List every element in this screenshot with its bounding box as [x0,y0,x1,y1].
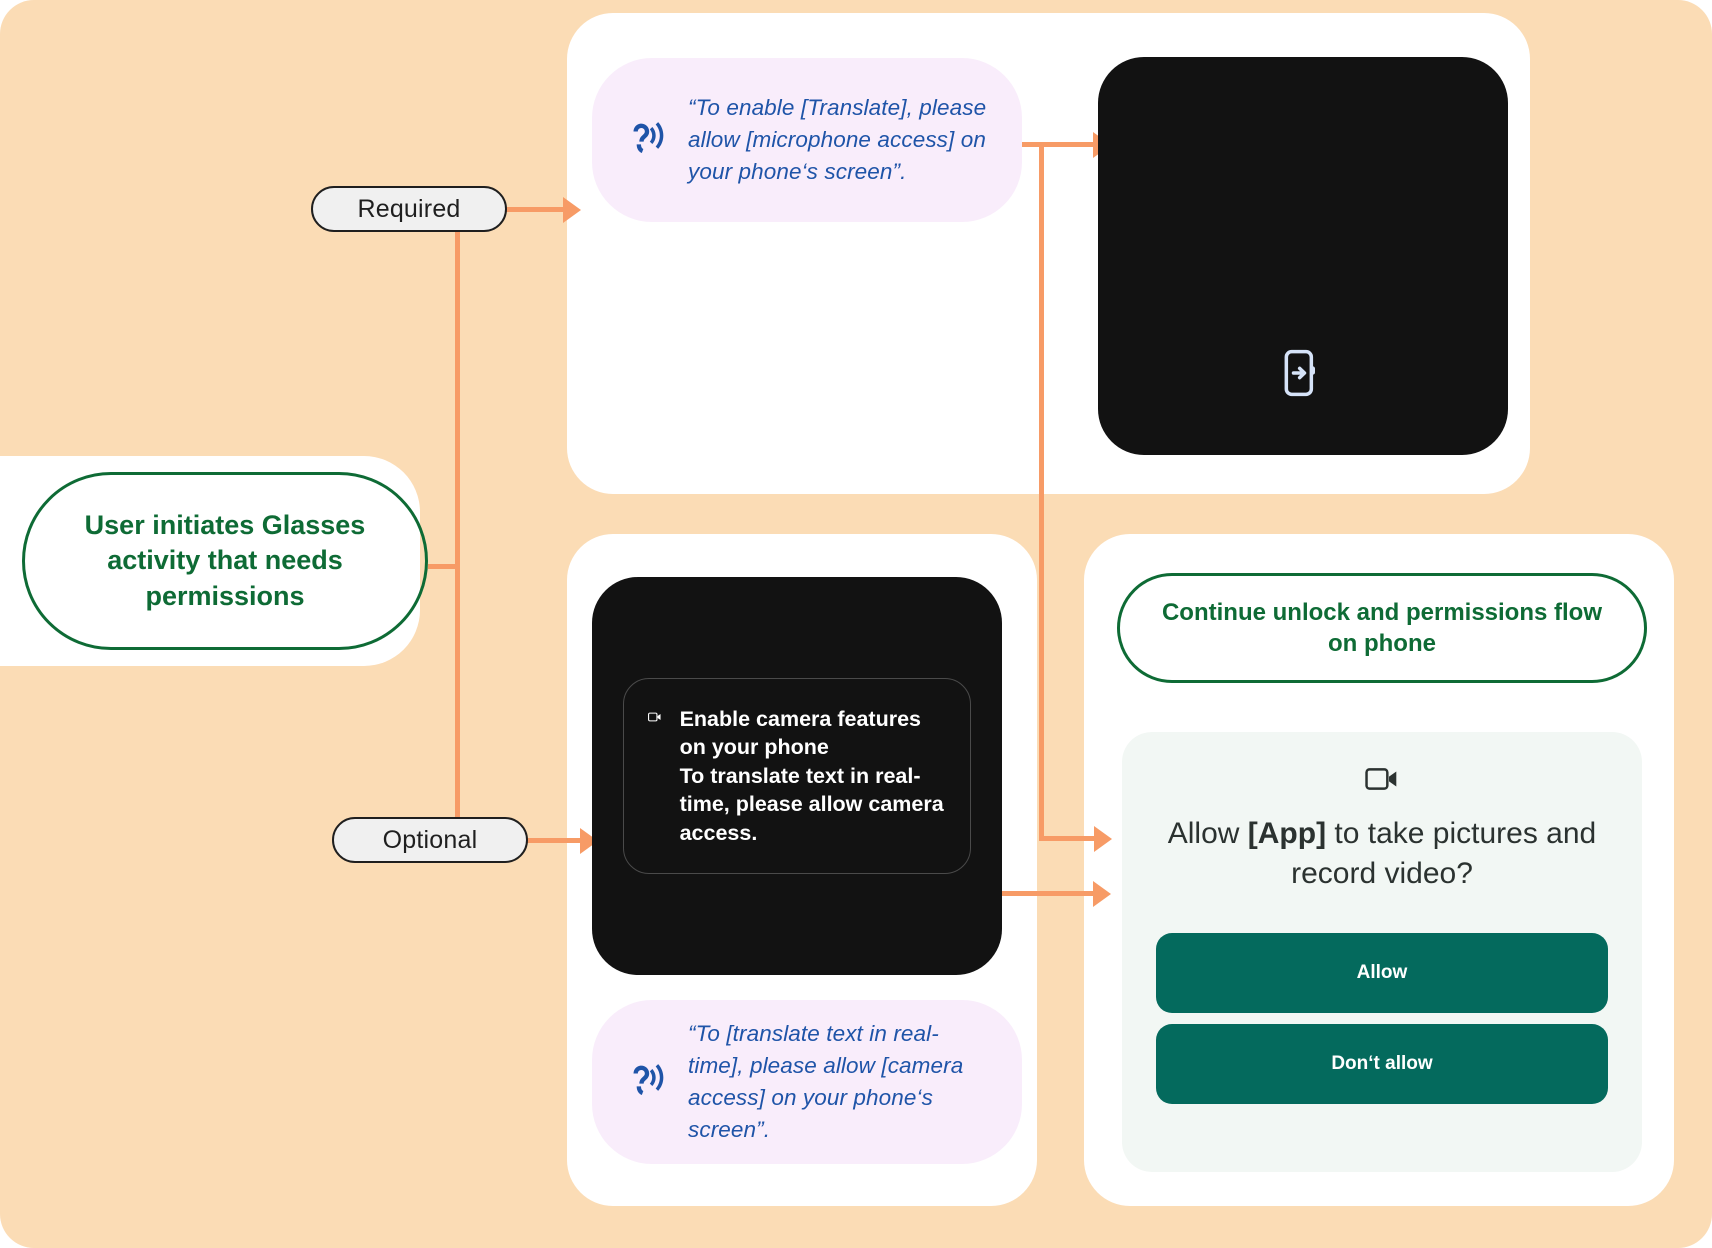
speech-bubble-microphone-text: “To enable [Translate], please allow [mi… [688,92,988,188]
permission-question-app: [App] [1248,817,1326,850]
connector-optional-to-card [524,838,584,843]
connector-vertical-to-phone [1039,142,1044,841]
arrowhead-to-phone-upper [1094,826,1112,852]
node-user-initiates-activity[interactable]: User initiates Glasses activity that nee… [22,472,428,650]
connector-required-to-bubble [507,207,567,212]
connector-start-stub [428,564,458,569]
deny-button[interactable]: Don‘t allow [1156,1024,1608,1104]
glasses-notification-title: Enable camera features on your phone [680,705,946,762]
permission-question-prefix: Allow [1168,817,1248,850]
speech-bubble-camera-text: “To [translate text in real-time], pleas… [688,1018,988,1146]
permission-question: Allow [App] to take pictures and record … [1152,814,1612,893]
connector-glasses-to-phone [1000,891,1100,896]
glasses-display-camera-prompt: Enable camera features on your phone To … [592,577,1002,975]
connector-trunk-vertical [455,209,460,822]
branch-pill-required[interactable]: Required [311,186,507,232]
glasses-notification-card: Enable camera features on your phone To … [623,678,971,874]
video-camera-icon [1365,766,1399,792]
arrowhead-required [563,197,581,223]
speech-bubble-microphone: “To enable [Translate], please allow [mi… [592,58,1022,222]
arrowhead-to-phone-lower [1093,881,1111,907]
connector-elbow-to-phone [1039,836,1101,841]
android-permission-dialog: Allow [App] to take pictures and record … [1122,732,1642,1172]
video-camera-icon [648,705,662,729]
phone-continue-icon [1283,349,1323,397]
node-continue-on-phone[interactable]: Continue unlock and permissions flow on … [1117,573,1647,683]
node-start-label: User initiates Glasses activity that nee… [61,508,389,613]
glasses-notification-subtitle: To translate text in real-time, please a… [680,762,946,847]
permission-question-suffix: to take pictures and record video? [1291,817,1596,890]
branch-pill-required-label: Required [357,195,460,224]
ear-hearing-icon [626,120,666,160]
deny-button-label: Don‘t allow [1331,1053,1432,1075]
glasses-display-unlock [1098,57,1508,455]
branch-pill-optional[interactable]: Optional [332,817,528,863]
connector-bubble-to-glasses [1018,142,1100,147]
allow-button[interactable]: Allow [1156,933,1608,1013]
speech-bubble-camera: “To [translate text in real-time], pleas… [592,1000,1022,1164]
branch-pill-optional-label: Optional [383,826,478,855]
diagram-canvas: User initiates Glasses activity that nee… [0,0,1712,1248]
allow-button-label: Allow [1357,962,1408,984]
node-continue-label: Continue unlock and permissions flow on … [1148,597,1616,659]
ear-hearing-icon [626,1062,666,1102]
